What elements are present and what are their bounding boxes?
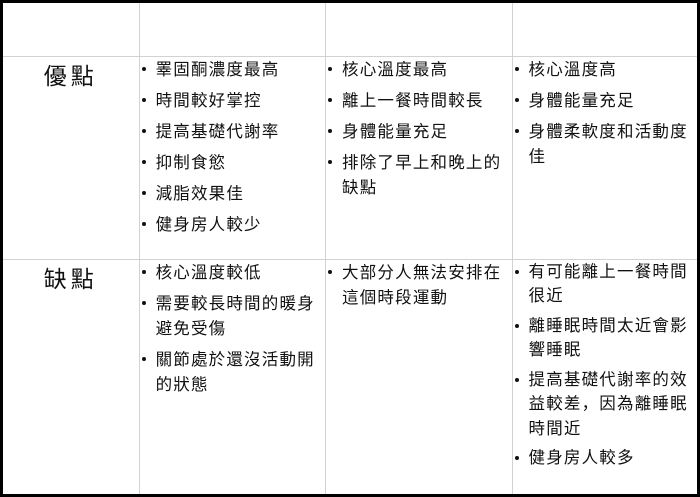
list-item: 需要較長時間的暖身避免受傷 bbox=[140, 291, 325, 341]
list-item: 身體能量充足 bbox=[326, 119, 511, 144]
table-header: 早上 下午 晚上 bbox=[2, 2, 699, 57]
table-row-pros: 優點 睪固酮濃度最高 時間較好掌控 提高基礎代謝率 抑制食慾 減脂效果佳 健身房… bbox=[2, 57, 699, 260]
column-header-morning: 早上 bbox=[139, 2, 325, 57]
list-item: 核心溫度高 bbox=[513, 57, 698, 82]
list-item: 身體能量充足 bbox=[513, 88, 698, 113]
cell-cons-morning: 核心溫度較低 需要較長時間的暖身避免受傷 關節處於還沒活動開的狀態 bbox=[139, 259, 325, 495]
list-item: 核心溫度最高 bbox=[326, 57, 511, 82]
table-row-cons: 缺點 核心溫度較低 需要較長時間的暖身避免受傷 關節處於還沒活動開的狀態 大部分… bbox=[2, 259, 699, 495]
list-item: 抑制食慾 bbox=[140, 150, 325, 175]
bullet-list-pros-afternoon: 核心溫度最高 離上一餐時間較長 身體能量充足 排除了早上和晚上的缺點 bbox=[326, 57, 511, 200]
bullet-list-cons-afternoon: 大部分人無法安排在這個時段運動 bbox=[326, 260, 511, 310]
cell-cons-afternoon: 大部分人無法安排在這個時段運動 bbox=[326, 259, 512, 495]
list-item: 排除了早上和晚上的缺點 bbox=[326, 150, 511, 200]
list-item: 睪固酮濃度最高 bbox=[140, 57, 325, 82]
cell-pros-morning: 睪固酮濃度最高 時間較好掌控 提高基礎代謝率 抑制食慾 減脂效果佳 健身房人較少 bbox=[139, 57, 325, 260]
list-item: 身體柔軟度和活動度佳 bbox=[513, 119, 698, 169]
cell-pros-afternoon: 核心溫度最高 離上一餐時間較長 身體能量充足 排除了早上和晚上的缺點 bbox=[326, 57, 512, 260]
list-item: 關節處於還沒活動開的狀態 bbox=[140, 347, 325, 397]
row-label-cons: 缺點 bbox=[2, 259, 140, 495]
list-item: 時間較好掌控 bbox=[140, 88, 325, 113]
list-item: 減脂效果佳 bbox=[140, 181, 325, 206]
list-item: 核心溫度較低 bbox=[140, 260, 325, 285]
bullet-list-cons-evening: 有可能離上一餐時間很近 離睡眠時間太近會影響睡眠 提高基礎代謝率的效益較差，因為… bbox=[513, 260, 698, 471]
header-row: 早上 下午 晚上 bbox=[2, 2, 699, 57]
bullet-list-pros-evening: 核心溫度高 身體能量充足 身體柔軟度和活動度佳 bbox=[513, 57, 698, 169]
bullet-list-pros-morning: 睪固酮濃度最高 時間較好掌控 提高基礎代謝率 抑制食慾 減脂效果佳 健身房人較少 bbox=[140, 57, 325, 237]
list-item: 提高基礎代謝率的效益較差，因為離睡眠時間近 bbox=[513, 368, 698, 442]
cell-pros-evening: 核心溫度高 身體能量充足 身體柔軟度和活動度佳 bbox=[512, 57, 699, 260]
cell-cons-evening: 有可能離上一餐時間很近 離睡眠時間太近會影響睡眠 提高基礎代謝率的效益較差，因為… bbox=[512, 259, 699, 495]
list-item: 有可能離上一餐時間很近 bbox=[513, 260, 698, 309]
list-item: 健身房人較少 bbox=[140, 212, 325, 237]
list-item: 離睡眠時間太近會影響睡眠 bbox=[513, 314, 698, 363]
list-item: 提高基礎代謝率 bbox=[140, 119, 325, 144]
table-corner-cell bbox=[2, 2, 140, 57]
column-header-afternoon: 下午 bbox=[326, 2, 512, 57]
list-item: 健身房人較多 bbox=[513, 446, 698, 471]
list-item: 離上一餐時間較長 bbox=[326, 88, 511, 113]
bullet-list-cons-morning: 核心溫度較低 需要較長時間的暖身避免受傷 關節處於還沒活動開的狀態 bbox=[140, 260, 325, 397]
row-label-pros: 優點 bbox=[2, 57, 140, 260]
table-body: 優點 睪固酮濃度最高 時間較好掌控 提高基礎代謝率 抑制食慾 減脂效果佳 健身房… bbox=[2, 57, 699, 496]
list-item: 大部分人無法安排在這個時段運動 bbox=[326, 260, 511, 310]
workout-time-comparison-table: 早上 下午 晚上 優點 睪固酮濃度最高 時間較好掌控 提高基礎代謝率 抑制食慾 … bbox=[0, 0, 700, 497]
column-header-evening: 晚上 bbox=[512, 2, 699, 57]
